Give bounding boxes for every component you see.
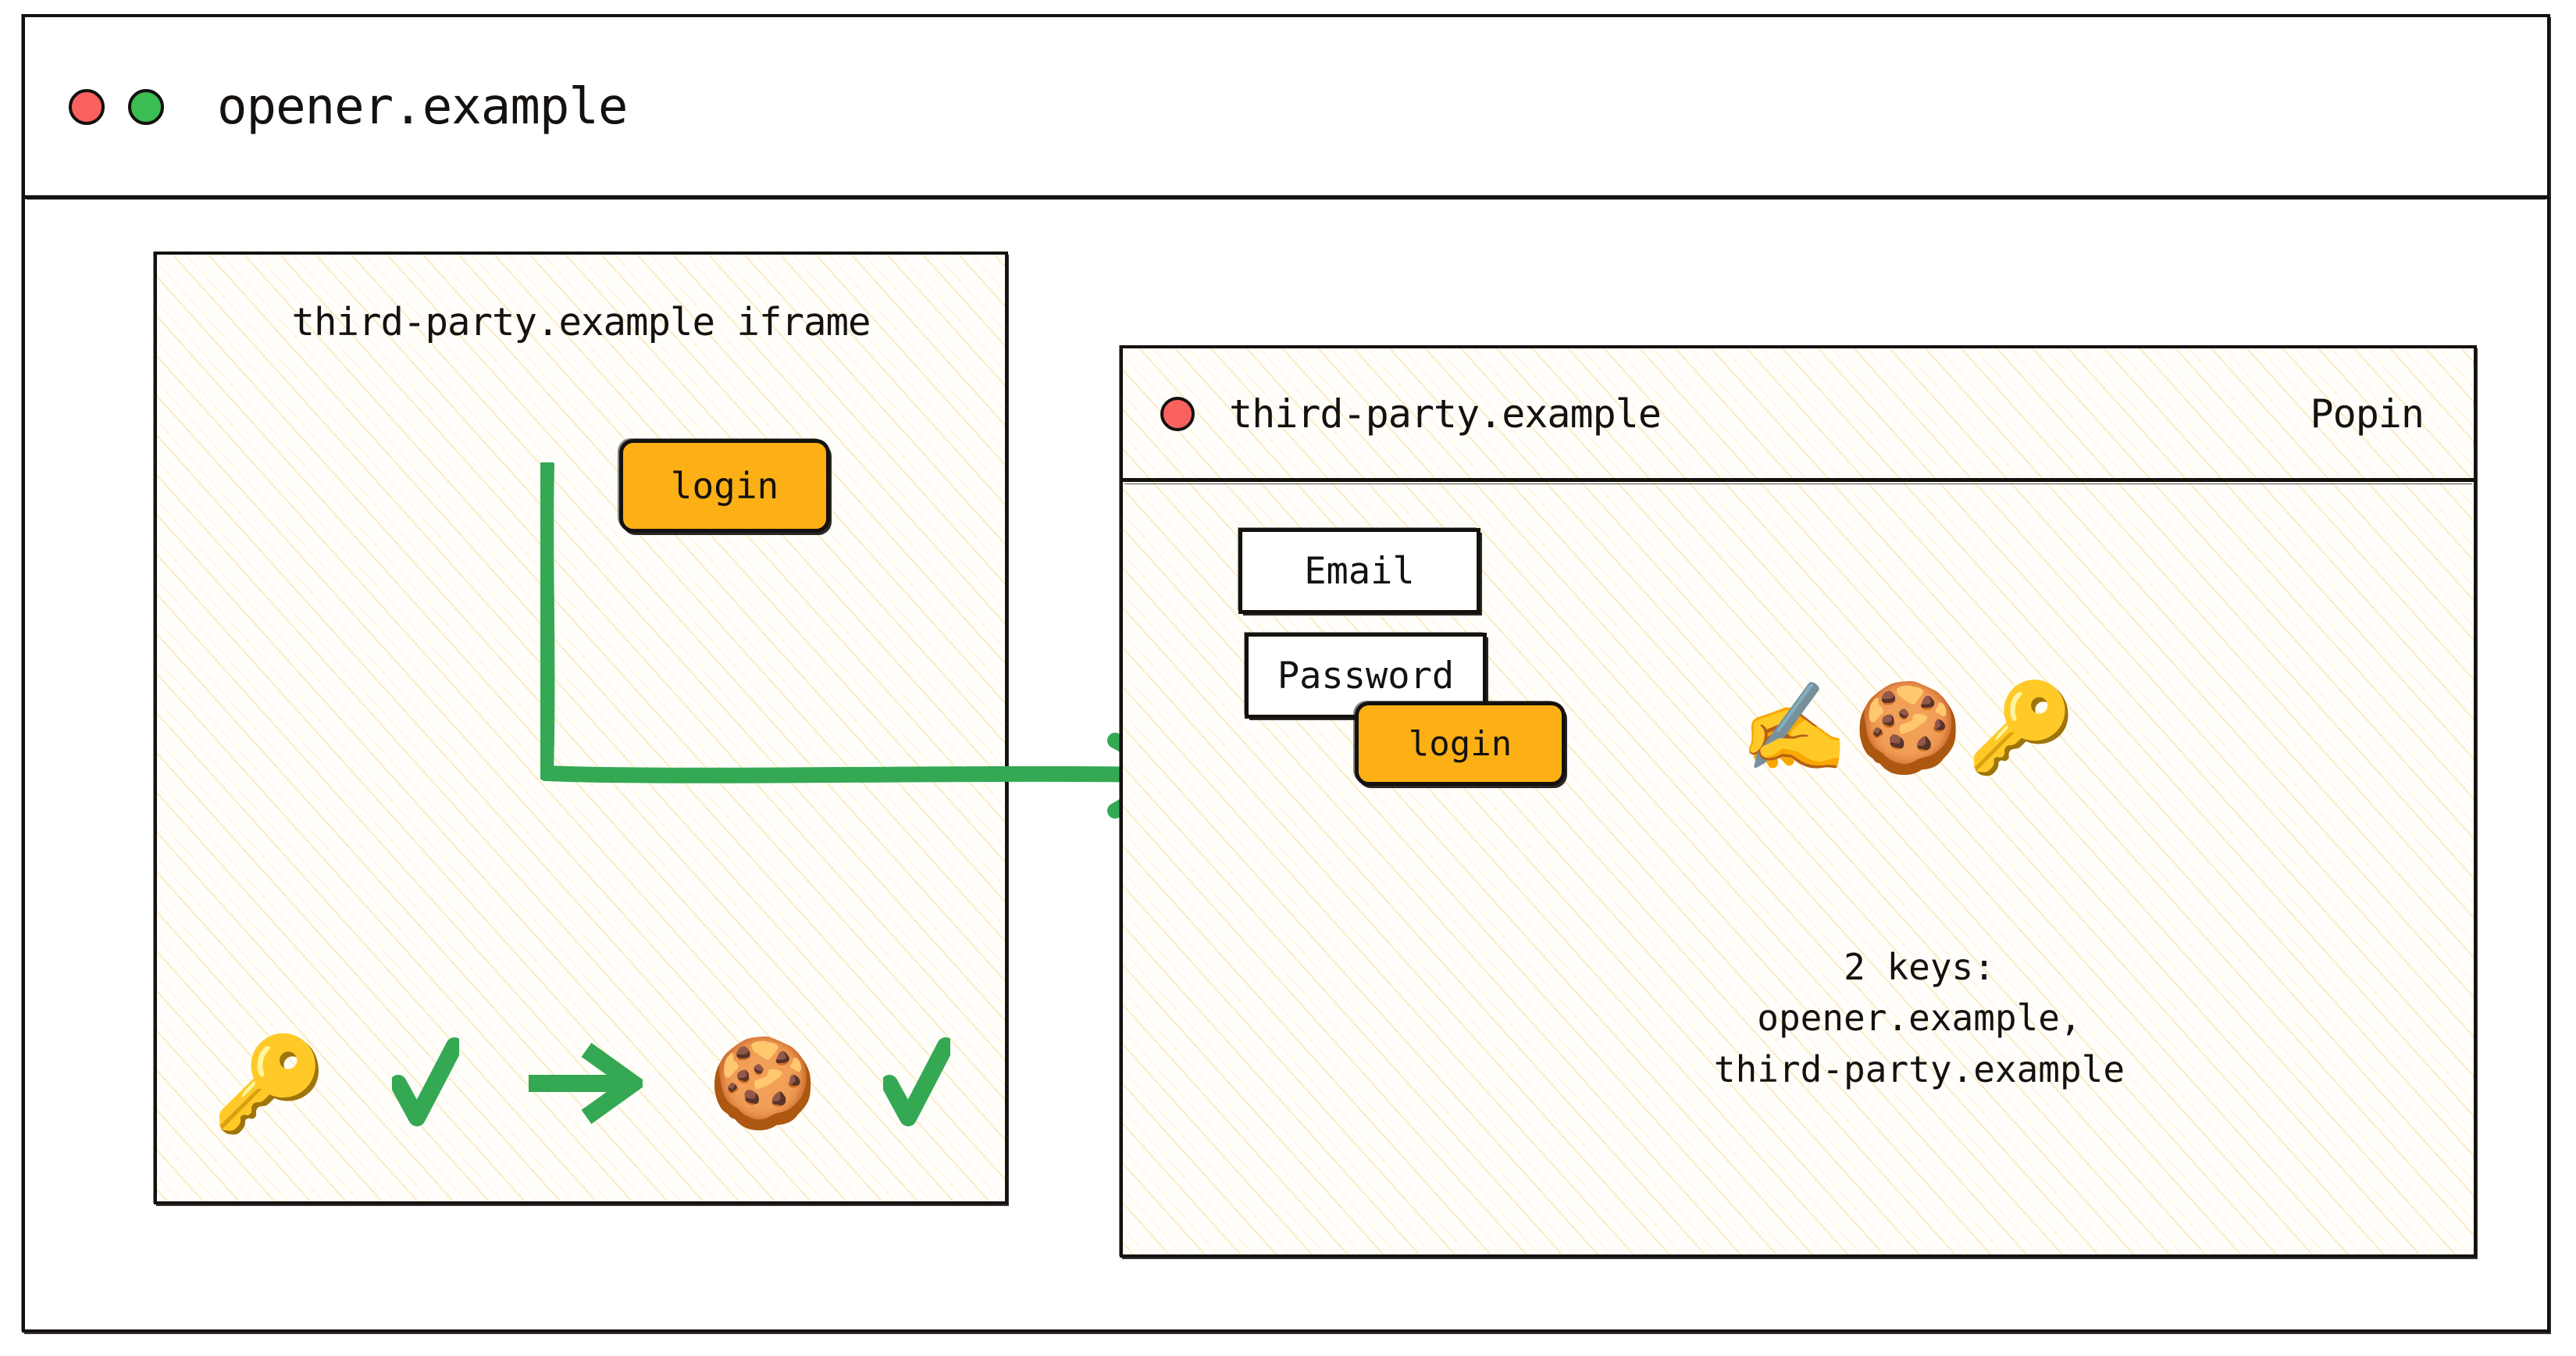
popin-titlebar: third-party.example Popin — [1123, 348, 2474, 480]
cookie-icon: 🍪 — [708, 1040, 817, 1127]
keys-note-line-2: opener.example, — [1607, 993, 2232, 1044]
opener-browser-window: opener.example third-party.example ifram… — [22, 14, 2550, 1333]
diagram-canvas: opener.example third-party.example ifram… — [0, 0, 2576, 1356]
popin-keys-note: 2 keys: opener.example, third-party.exam… — [1607, 942, 2232, 1095]
key-icon: 🔑 — [212, 1037, 326, 1129]
email-field[interactable]: Email — [1238, 528, 1480, 614]
key-to-cookie-arrow-icon — [526, 1040, 643, 1126]
popin-storage-row: ✍️ 🍪 🔑 — [1740, 684, 2075, 772]
writing-hand-icon: ✍️ — [1740, 684, 1848, 772]
close-dot[interactable] — [1160, 397, 1195, 431]
keys-note-line-3: third-party.example — [1607, 1044, 2232, 1095]
iframe-storage-row: 🔑 🍪 — [188, 1001, 974, 1165]
close-dot[interactable] — [69, 89, 105, 125]
popin-origin-label: third-party.example — [1229, 391, 1661, 437]
titlebar-divider — [25, 195, 2547, 199]
cookie-allowed-check-icon — [883, 1037, 950, 1130]
page-title: opener.example — [217, 78, 627, 136]
key-allowed-check-icon — [392, 1037, 459, 1130]
third-party-iframe-panel: third-party.example iframe login 🔑 🍪 — [154, 252, 1008, 1204]
popin-titlebar-left: third-party.example — [1160, 391, 1661, 437]
cookie-icon: 🍪 — [1853, 684, 1961, 772]
popin-login-button[interactable]: login — [1355, 701, 1566, 786]
iframe-panel-title: third-party.example iframe — [157, 300, 1005, 344]
iframe-login-button[interactable]: login — [619, 439, 830, 533]
opener-window-titlebar: opener.example — [25, 17, 2547, 197]
window-controls[interactable] — [69, 89, 164, 125]
key-icon: 🔑 — [1967, 684, 2075, 772]
popin-titlebar-divider — [1123, 478, 2474, 482]
popin-window: third-party.example Popin Email Password… — [1120, 345, 2477, 1258]
maximize-dot[interactable] — [128, 89, 164, 125]
keys-note-line-1: 2 keys: — [1607, 942, 2232, 993]
popin-kind-label: Popin — [2310, 391, 2424, 437]
